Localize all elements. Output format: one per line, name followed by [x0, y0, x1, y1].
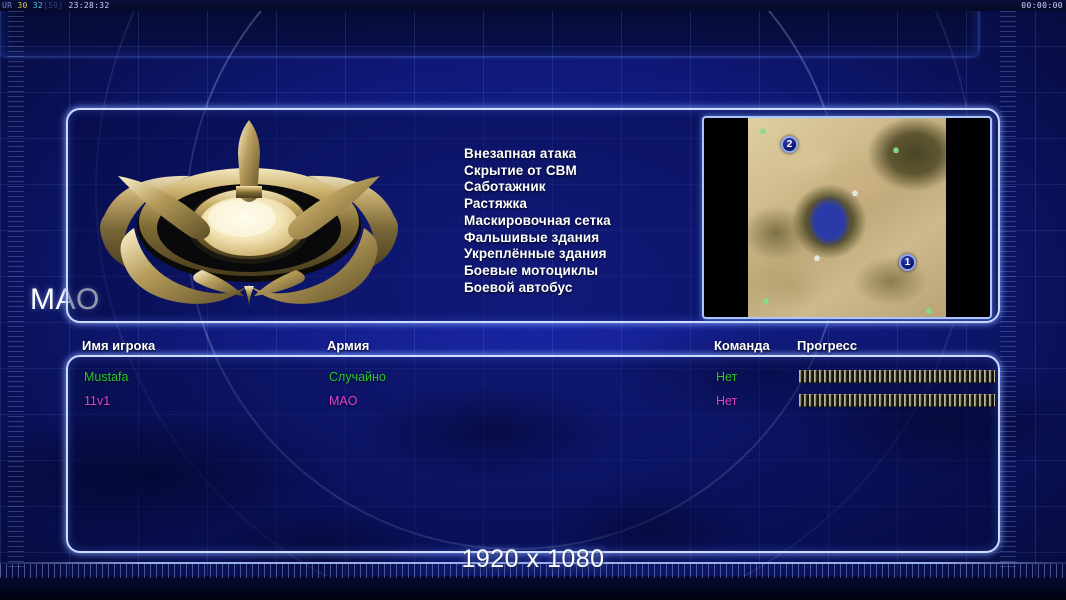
- player-name: 11v1: [84, 389, 110, 413]
- ability-item: Укреплённые здания: [464, 246, 611, 263]
- table-row[interactable]: 11v1 MAO Нет: [68, 389, 1002, 413]
- game-lobby-screen: UR 30 32[59] 23:28:32 00:00:00 MAO: [0, 0, 1066, 600]
- ability-item: Внезапная атака: [464, 146, 611, 163]
- status-bar: UR 30 32[59] 23:28:32 00:00:00: [0, 0, 1066, 11]
- column-header-progress: Прогресс: [797, 338, 857, 353]
- minimap-start-position-1[interactable]: 1: [899, 254, 916, 271]
- status-bar-left: UR 30 32[59] 23:28:32: [2, 0, 109, 11]
- ability-item: Боевые мотоциклы: [464, 263, 611, 280]
- player-progress-bar: [799, 370, 995, 383]
- bottom-dark-strip: [0, 576, 1066, 600]
- ruler-right: [1000, 11, 1016, 571]
- minimap-resource: [893, 147, 899, 153]
- column-header-player-name: Имя игрока: [82, 338, 155, 353]
- minimap[interactable]: 2 1: [702, 116, 992, 319]
- faction-ability-list: Внезапная атака Скрытие от СВМ Саботажни…: [464, 146, 611, 296]
- ruler-left: [8, 11, 24, 571]
- ability-item: Скрытие от СВМ: [464, 163, 611, 180]
- status-seg-clock: 23:28:32: [69, 1, 110, 10]
- status-bar-timer: 00:00:00: [1021, 0, 1063, 11]
- column-header-army: Армия: [327, 338, 369, 353]
- resolution-label: 1920 x 1080: [0, 545, 1066, 574]
- player-team[interactable]: Нет: [716, 365, 737, 389]
- column-header-team: Команда: [714, 338, 770, 353]
- ability-item: Растяжка: [464, 196, 611, 213]
- ability-item: Маскировочная сетка: [464, 213, 611, 230]
- gla-faction-emblem-icon: [94, 118, 404, 316]
- player-roster-panel: Mustafa Случайно Нет 11v1 MAO Нет: [66, 355, 1000, 553]
- faction-info-panel: Внезапная атака Скрытие от СВМ Саботажни…: [66, 108, 1000, 323]
- status-seg-ur: UR: [2, 1, 12, 10]
- status-seg-bracket: [59]: [43, 1, 63, 10]
- player-team[interactable]: Нет: [716, 389, 737, 413]
- ability-item: Фальшивые здания: [464, 230, 611, 247]
- player-name: Mustafa: [84, 365, 128, 389]
- roster-header-row: Имя игрока Армия Команда Прогресс: [66, 338, 1000, 358]
- minimap-resource: [763, 298, 769, 304]
- minimap-resource: [814, 255, 820, 261]
- minimap-resource: [760, 128, 766, 134]
- status-seg-fps: 30: [17, 1, 27, 10]
- minimap-terrain: 2 1: [748, 118, 946, 317]
- ability-item: Саботажник: [464, 179, 611, 196]
- minimap-resource: [926, 308, 932, 314]
- player-progress-bar: [799, 394, 995, 407]
- player-army[interactable]: Случайно: [329, 365, 386, 389]
- status-seg-ping: 32: [33, 1, 43, 10]
- table-row[interactable]: Mustafa Случайно Нет: [68, 365, 1002, 389]
- minimap-start-position-2[interactable]: 2: [781, 136, 798, 153]
- minimap-resource: [852, 190, 858, 196]
- ability-item: Боевой автобус: [464, 280, 611, 297]
- player-army[interactable]: MAO: [329, 389, 357, 413]
